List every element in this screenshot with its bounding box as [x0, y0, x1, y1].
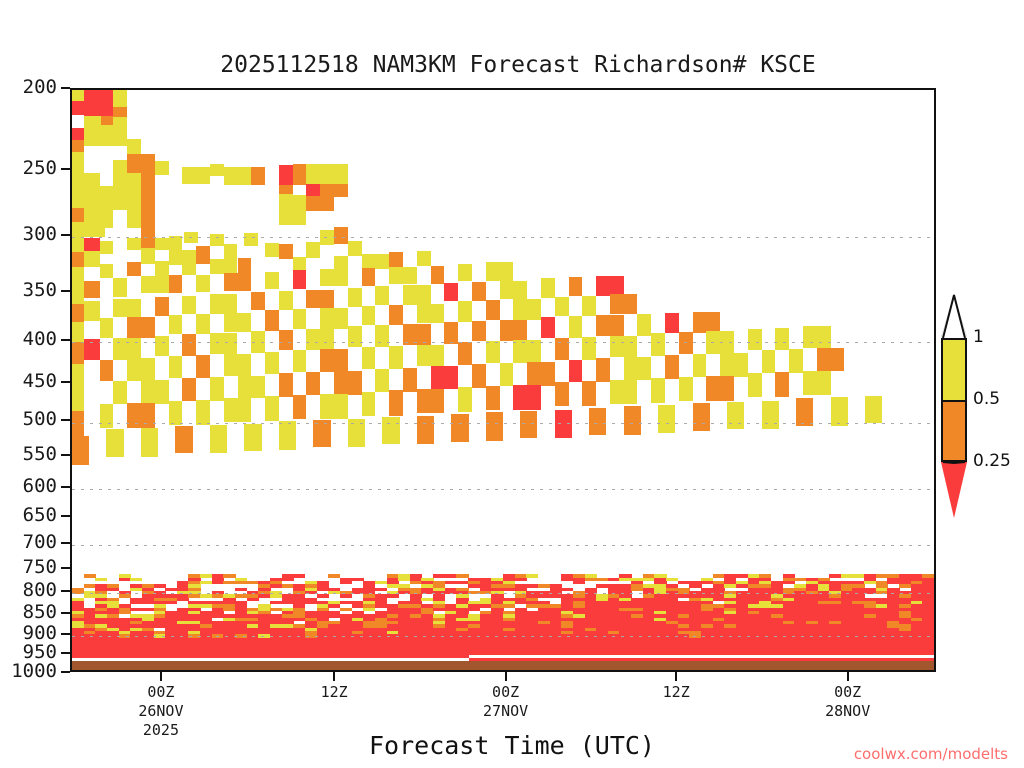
- heatmap-cell: [177, 598, 189, 601]
- y-tick-label-200: 200: [0, 76, 57, 98]
- heatmap-cell: [596, 578, 608, 581]
- heatmap-cell: [389, 390, 403, 415]
- gridline-500: [72, 423, 934, 424]
- heatmap-cell: [293, 270, 307, 288]
- heatmap-cell: [538, 584, 550, 587]
- y-tick-900: [61, 633, 70, 635]
- heatmap-cell: [223, 581, 235, 584]
- heatmap-cell: [210, 234, 224, 247]
- heatmap-cell: [362, 347, 376, 369]
- heatmap-cell: [101, 116, 113, 125]
- heatmap-cell: [223, 574, 235, 577]
- heatmap-cell: [130, 578, 142, 581]
- heatmap-cell: [541, 317, 555, 338]
- heatmap-cell: [251, 292, 265, 310]
- heatmap-cell: [84, 584, 96, 587]
- heatmap-cell: [527, 362, 555, 386]
- heatmap-cell: [154, 624, 166, 627]
- heatmap-cell: [678, 581, 690, 584]
- heatmap-cell: [456, 574, 468, 577]
- heatmap-cell: [433, 608, 445, 611]
- y-tick-label-850: 850: [0, 601, 57, 623]
- heatmap-cell: [444, 322, 458, 344]
- heatmap-cell: [279, 211, 307, 225]
- y-tick-700: [61, 542, 70, 544]
- heatmap-cell: [196, 275, 210, 292]
- gridline-900: [72, 636, 934, 637]
- heatmap-cell: [589, 408, 606, 435]
- heatmap-cell: [876, 574, 888, 577]
- y-tick-400: [61, 339, 70, 341]
- heatmap-cell: [362, 268, 376, 286]
- heatmap-cell: [212, 594, 224, 597]
- heatmap-cell: [84, 125, 113, 146]
- heatmap-cell: [637, 314, 651, 336]
- heatmap-cell: [651, 378, 665, 403]
- heatmap-cell: [608, 578, 620, 581]
- heatmap-cell: [169, 315, 183, 334]
- heatmap-cell: [84, 594, 96, 597]
- heatmap-cell: [247, 598, 259, 601]
- heatmap-cell: [596, 584, 608, 587]
- heatmap-cell: [340, 601, 352, 604]
- heatmap-cell: [736, 584, 748, 587]
- colorbar-bottom-arrow: [941, 462, 967, 518]
- y-tick-1000: [61, 671, 70, 673]
- heatmap-cell: [127, 139, 141, 154]
- heatmap-cell: [852, 574, 864, 577]
- heatmap-cell: [182, 296, 196, 314]
- heatmap-cell: [279, 165, 293, 184]
- heatmap-cell: [212, 581, 224, 584]
- heatmap-cell: [265, 396, 279, 421]
- colorbar-segment-yellow: [941, 338, 967, 400]
- heatmap-cell: [362, 392, 376, 416]
- heatmap-cell: [270, 584, 282, 587]
- heatmap-cell: [169, 275, 183, 293]
- heatmap-cell: [188, 594, 200, 597]
- heatmap-cell: [224, 398, 252, 422]
- gridline-700: [72, 545, 934, 546]
- heatmap-cell: [279, 244, 293, 259]
- heatmap-cell: [293, 257, 307, 272]
- heatmap-cell: [282, 578, 294, 581]
- plot-area: [70, 88, 936, 672]
- heatmap-cell: [182, 378, 196, 401]
- heatmap-cell: [224, 244, 238, 259]
- heatmap-cell: [84, 301, 100, 320]
- heatmap-cell: [513, 299, 541, 320]
- heatmap-cell: [84, 574, 96, 577]
- y-tick-label-600: 600: [0, 475, 57, 497]
- heatmap-cell: [775, 328, 789, 351]
- heatmap-cell: [803, 371, 831, 395]
- heatmap-cell: [624, 406, 641, 435]
- heatmap-cell: [165, 588, 177, 591]
- heatmap-cell: [352, 604, 364, 607]
- heatmap-cell: [410, 581, 422, 584]
- heatmap-cell: [196, 314, 210, 335]
- heatmap-cell: [713, 574, 725, 577]
- heatmap-cell: [72, 115, 84, 128]
- heatmap-cell: [95, 578, 107, 581]
- heatmap-cell: [334, 227, 348, 244]
- heatmap-cell: [561, 578, 573, 581]
- heatmap-cell: [293, 618, 305, 621]
- heatmap-cell: [72, 208, 84, 223]
- colorbar-top-arrow: [941, 294, 967, 338]
- x-tick-3: [675, 672, 677, 681]
- heatmap-cell: [515, 578, 527, 581]
- heatmap-cell: [72, 187, 84, 208]
- heatmap-cell: [72, 140, 84, 151]
- heatmap-cell: [444, 283, 458, 301]
- colorbar: 1 0.5 0.25: [941, 294, 967, 464]
- heatmap-cell: [265, 272, 279, 289]
- heatmap-cell: [658, 405, 675, 432]
- heatmap-cell: [762, 350, 776, 373]
- heatmap-cell: [486, 262, 514, 280]
- heatmap-cell: [279, 373, 293, 397]
- x-tick-0: [160, 672, 162, 681]
- heatmap-cell: [829, 574, 841, 577]
- heatmap-cell: [210, 294, 238, 313]
- x-tick-4: [847, 672, 849, 681]
- y-tick-300: [61, 234, 70, 236]
- heatmap-cell: [748, 373, 762, 397]
- heatmap-cell: [724, 584, 736, 587]
- credit-link[interactable]: coolwx.com/modelts: [854, 745, 1008, 763]
- heatmap-cell: [610, 294, 638, 313]
- heatmap-cell: [433, 574, 445, 577]
- x-tick-1: [333, 672, 335, 681]
- heatmap-cell: [210, 259, 238, 274]
- heatmap-cell: [72, 170, 84, 187]
- heatmap-cell: [224, 273, 252, 291]
- y-tick-750: [61, 567, 70, 569]
- heatmap-cell: [651, 333, 665, 356]
- y-tick-200: [61, 87, 70, 89]
- heatmap-cell: [223, 608, 235, 611]
- heatmap-cell: [348, 241, 362, 256]
- heatmap-cell: [500, 281, 528, 299]
- heatmap-cell: [555, 410, 572, 439]
- heatmap-cell: [130, 608, 142, 611]
- heatmap-cell: [555, 382, 569, 406]
- heatmap-cell: [486, 341, 500, 363]
- heatmap-cell: [306, 184, 320, 197]
- heatmap-cell: [200, 574, 212, 577]
- heatmap-cell: [526, 584, 538, 587]
- heatmap-cell: [783, 581, 795, 584]
- heatmap-cell: [72, 237, 84, 252]
- heatmap-cell: [468, 584, 480, 587]
- heatmap-cell: [169, 356, 183, 378]
- heatmap-cell: [363, 608, 375, 611]
- y-tick-label-300: 300: [0, 223, 57, 245]
- heatmap-cell: [569, 277, 583, 295]
- heatmap-cell: [282, 584, 294, 587]
- terrain-fill: [72, 661, 934, 672]
- heatmap-cell: [320, 394, 348, 419]
- heatmap-cell: [585, 578, 597, 581]
- heatmap-cell: [141, 248, 155, 264]
- heatmap-cell: [472, 321, 486, 342]
- heatmap-cell: [538, 594, 550, 597]
- heatmap-cell: [84, 116, 101, 125]
- heatmap-cell: [451, 414, 468, 441]
- heatmap-cell: [200, 581, 212, 584]
- heatmap-cell: [119, 594, 131, 597]
- terrain-surface-line: [72, 658, 469, 661]
- heatmap-cell: [127, 358, 155, 381]
- heatmap-cell: [701, 581, 713, 584]
- heatmap-cell: [417, 389, 445, 413]
- y-tick-950: [61, 652, 70, 654]
- heatmap-cell: [113, 146, 127, 160]
- page-title: 2025112518 NAM3KM Forecast Richardson# K…: [0, 52, 1024, 78]
- heatmap-cell: [100, 146, 114, 159]
- heatmap-cell: [513, 340, 541, 363]
- heatmap-cell: [624, 357, 652, 380]
- heatmap-cell: [458, 301, 472, 322]
- heatmap-cell: [155, 336, 169, 357]
- heatmap-cell: [417, 251, 431, 266]
- heatmap-cell: [340, 594, 352, 597]
- heatmap-cell: [84, 146, 100, 157]
- heatmap-cell: [306, 242, 320, 258]
- heatmap-cell: [293, 195, 307, 211]
- heatmap-cell: [293, 395, 307, 419]
- heatmap-cell: [389, 252, 403, 267]
- heatmap-cell: [113, 299, 141, 317]
- heatmap-cell: [320, 349, 348, 372]
- heatmap-cell: [320, 269, 348, 286]
- heatmap-cell: [458, 342, 472, 365]
- heatmap-cell: [293, 309, 307, 328]
- heatmap-cell: [515, 601, 527, 604]
- heatmap-cell: [679, 377, 693, 401]
- heatmap-cell: [113, 210, 127, 228]
- heatmap-cell: [389, 305, 403, 326]
- y-tick-450: [61, 381, 70, 383]
- y-tick-label-550: 550: [0, 443, 57, 465]
- heatmap-cell: [72, 252, 84, 267]
- heatmap-cell: [789, 349, 803, 373]
- y-tick-600: [61, 486, 70, 488]
- heatmap-cell: [736, 574, 748, 577]
- heatmap-cell: [398, 578, 410, 581]
- heatmap-cell: [382, 417, 399, 444]
- heatmap-cell: [693, 354, 707, 377]
- heatmap-cell: [306, 329, 334, 351]
- heatmap-cell: [141, 380, 169, 404]
- heatmap-cell: [235, 594, 247, 597]
- heatmap-cell: [265, 352, 279, 375]
- heatmap-cell: [270, 601, 282, 604]
- heatmap-cell: [106, 429, 123, 456]
- y-tick-label-800: 800: [0, 579, 57, 601]
- heatmap-cell: [596, 358, 610, 382]
- heatmap-cell: [431, 266, 445, 284]
- heatmap-cell: [541, 278, 555, 297]
- heatmap-cell: [175, 426, 192, 453]
- heatmap-cell: [72, 284, 84, 303]
- terrain-surface-line: [469, 655, 934, 658]
- y-tick-550: [61, 454, 70, 456]
- heatmap-cell: [865, 396, 882, 423]
- heatmap-cell: [727, 402, 744, 429]
- heatmap-cell: [142, 601, 154, 604]
- heatmap-cell: [244, 424, 261, 451]
- x-tick-label-4: 00Z28NOV: [788, 683, 908, 721]
- heatmap-cell: [503, 604, 515, 607]
- x-tick-label-3: 12Z: [616, 683, 736, 702]
- heatmap-cell: [421, 598, 433, 601]
- x-tick-label-1: 12Z: [274, 683, 394, 702]
- heatmap-cell: [113, 160, 127, 174]
- heatmap-cell: [155, 297, 169, 316]
- heatmap-cell: [141, 204, 155, 228]
- y-tick-label-1000: 1000: [0, 660, 57, 682]
- y-tick-label-650: 650: [0, 504, 57, 526]
- heatmap-cell: [72, 387, 84, 411]
- heatmap-cell: [72, 304, 84, 322]
- heatmap-cell: [72, 322, 84, 343]
- heatmap-cell: [520, 411, 537, 438]
- heatmap-cell: [169, 236, 183, 250]
- heatmap-cell: [182, 167, 210, 184]
- heatmap-cell: [196, 355, 210, 378]
- heatmap-cell: [389, 267, 417, 284]
- gridline-600: [72, 489, 934, 490]
- y-tick-label-400: 400: [0, 328, 57, 350]
- heatmap-cell: [119, 578, 131, 581]
- heatmap-cell: [210, 333, 238, 354]
- heatmap-cell: [235, 581, 247, 584]
- heatmap-cell: [127, 238, 141, 249]
- heatmap-cell: [282, 601, 294, 604]
- heatmap-cell: [468, 608, 480, 611]
- heatmap-cell: [210, 425, 227, 454]
- heatmap-cell: [817, 348, 845, 371]
- y-tick-label-700: 700: [0, 531, 57, 553]
- heatmap-cell: [375, 588, 387, 591]
- y-tick-250: [61, 168, 70, 170]
- heatmap-cell: [334, 371, 362, 395]
- heatmap-cell: [328, 614, 340, 617]
- heatmap-cell: [72, 267, 84, 284]
- heatmap-cell: [643, 578, 655, 581]
- heatmap-cell: [582, 337, 596, 360]
- heatmap-cell: [573, 581, 585, 584]
- y-tick-650: [61, 515, 70, 517]
- heatmap-cell: [251, 167, 265, 185]
- heatmap-cell: [456, 581, 468, 584]
- heatmap-cell: [666, 578, 678, 581]
- heatmap-cell: [762, 401, 779, 430]
- heatmap-cell: [247, 581, 259, 584]
- heatmap-cell: [803, 326, 831, 348]
- heatmap-cell: [317, 594, 329, 597]
- heatmap-cell: [200, 594, 212, 597]
- heatmap-cell: [665, 313, 679, 334]
- heatmap-cell: [270, 608, 282, 611]
- y-tick-350: [61, 290, 70, 292]
- heatmap-cell: [305, 601, 317, 604]
- heatmap-cell: [279, 291, 293, 310]
- heatmap-cells: [72, 90, 934, 670]
- heatmap-cell: [141, 167, 155, 188]
- heatmap-cell: [72, 436, 89, 465]
- heatmap-cell: [293, 350, 307, 372]
- heatmap-cell: [610, 380, 638, 404]
- heatmap-cell: [141, 428, 158, 457]
- heatmap-cell: [270, 594, 282, 597]
- heatmap-cell: [555, 297, 569, 316]
- heatmap-cell: [582, 296, 596, 317]
- heatmap-cell: [113, 186, 127, 210]
- heatmap-cell: [313, 420, 330, 447]
- y-tick-800: [61, 590, 70, 592]
- heatmap-cell: [500, 363, 514, 386]
- heatmap-cell: [72, 364, 84, 387]
- heatmap-cell: [72, 128, 84, 141]
- heatmap-cell: [72, 152, 84, 170]
- heatmap-cell: [210, 377, 224, 401]
- heatmap-cell: [279, 421, 296, 450]
- heatmap-cell: [340, 581, 352, 584]
- gridline-400: [72, 342, 934, 343]
- heatmap-cell: [127, 262, 141, 276]
- heatmap-cell: [72, 101, 84, 115]
- heatmap-cell: [596, 276, 624, 295]
- heatmap-cell: [142, 608, 154, 611]
- heatmap-cell: [389, 346, 403, 369]
- heatmap-cell: [417, 416, 434, 445]
- heatmap-cell: [526, 604, 538, 607]
- heatmap-cell: [293, 185, 307, 195]
- y-tick-850: [61, 612, 70, 614]
- heatmap-cell: [582, 381, 596, 406]
- heatmap-cell: [127, 317, 155, 338]
- heatmap-cell: [100, 318, 114, 337]
- heatmap-cell: [293, 574, 305, 577]
- heatmap-cell: [224, 167, 252, 185]
- heatmap-cell: [235, 588, 247, 591]
- heatmap-cell: [403, 285, 431, 304]
- heatmap-cell: [154, 584, 166, 587]
- heatmap-cell: [486, 300, 500, 319]
- heatmap-cell: [864, 581, 876, 584]
- heatmap-cell: [472, 282, 486, 301]
- heatmap-cell: [387, 594, 399, 597]
- heatmap-cell: [113, 278, 127, 296]
- heatmap-cell: [130, 601, 142, 604]
- heatmap-cell: [100, 264, 114, 279]
- heatmap-cell: [84, 173, 100, 186]
- heatmap-cell: [265, 310, 279, 331]
- heatmap-cell: [569, 316, 583, 338]
- heatmap-cell: [317, 588, 329, 591]
- heatmap-cell: [610, 336, 638, 358]
- heatmap-cell: [403, 368, 417, 392]
- heatmap-cell: [689, 584, 701, 587]
- heatmap-cell: [306, 196, 334, 211]
- heatmap-cell: [100, 404, 114, 428]
- colorbar-label-025: 0.25: [973, 451, 1011, 471]
- heatmap-cell: [445, 581, 457, 584]
